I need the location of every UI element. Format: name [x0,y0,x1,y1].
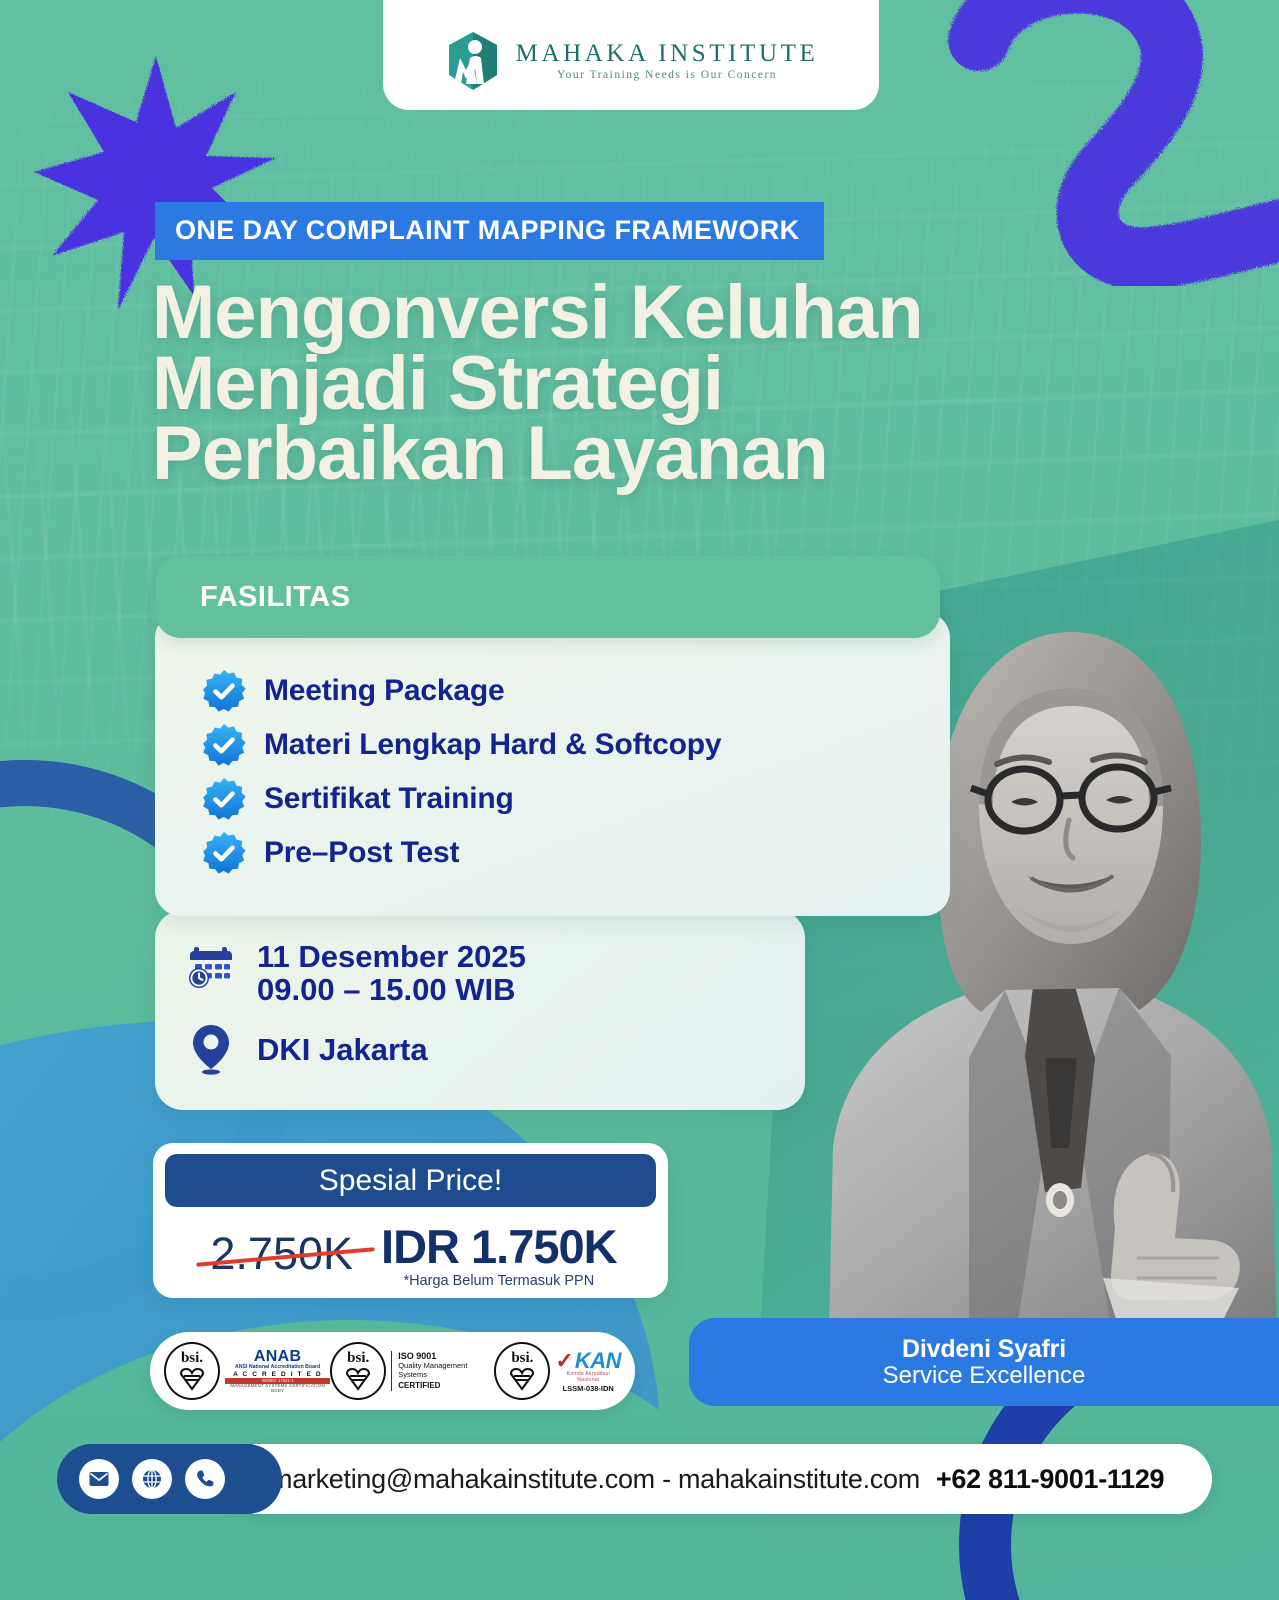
speaker-name: Divdeni Syafri [902,1335,1066,1363]
phone-icon[interactable] [185,1459,225,1499]
new-price-block: IDR 1.750K *Harga Belum Termasuk PPN [381,1219,617,1289]
kan-subtitle: Komite Akreditasi Nasional [555,1372,621,1383]
speaker-banner: Divdeni Syafri Service Excellence [689,1318,1279,1406]
certification-anab: bsi. ANAB ANSI National Accreditation Bo… [164,1342,330,1400]
brand-logo-card: MAHAKA INSTITUTE Your Training Needs is … [383,0,879,110]
email-icon[interactable] [79,1459,119,1499]
certification-badges: bsi. ANAB ANSI National Accreditation Bo… [150,1332,635,1410]
verified-check-icon [202,669,246,713]
bsi-logo-icon: bsi. [330,1342,386,1400]
anab-name: ANAB [225,1348,330,1365]
price-card: Spesial Price! 2.750K IDR 1.750K *Harga … [153,1143,668,1298]
iso-status: CERTIFIED [398,1381,494,1390]
footer-phone[interactable]: +62 811-9001-1129 [936,1464,1164,1495]
calendar-clock-icon [185,940,237,990]
iso-text-block: ISO 9001 Quality Management Systems CERT… [391,1351,494,1391]
facility-label: Materi Lengkap Hard & Softcopy [264,728,721,762]
bsi-logo-icon: bsi. [164,1342,220,1400]
anab-text-block: ANAB ANSI National Accreditation Board A… [225,1348,330,1394]
headline-line-2: Menjadi Strategi [152,349,1072,420]
headline-line-3: Perbaikan Layanan [152,419,1072,490]
facilities-section: FASILITAS Meeting Package [155,556,950,916]
speaker-role: Service Excellence [883,1363,1086,1390]
footer-contact-text: marketing@mahakainstitute.com - mahakain… [270,1464,920,1495]
facility-label: Sertifikat Training [264,782,514,816]
kan-name: KAN [575,1349,621,1372]
list-item: Materi Lengkap Hard & Softcopy [155,718,950,772]
kan-check-icon: ✓ [555,1352,573,1370]
facilities-heading: FASILITAS [155,556,940,638]
iso-scope: Quality Management Systems [398,1362,494,1380]
price-header: Spesial Price! [165,1154,656,1207]
facility-label: Meeting Package [264,674,504,708]
mahaka-monogram-icon [444,30,502,92]
list-item: Sertifikat Training [155,772,950,826]
schedule-card: 11 Desember 2025 09.00 – 15.00 WIB DKI J… [155,910,805,1110]
schedule-datetime: 11 Desember 2025 09.00 – 15.00 WIB [257,940,526,1007]
footer-icon-group [57,1444,282,1514]
map-pin-icon [185,1023,237,1075]
facility-label: Pre–Post Test [264,836,459,870]
brand-name: MAHAKA INSTITUTE [516,41,819,66]
anab-line2: A C C R E D I T E D [225,1371,330,1378]
footer-contact-bar: marketing@mahakainstitute.com - mahakain… [222,1444,1212,1514]
facilities-list: Meeting Package Materi Lengkap Hard & So… [155,612,950,916]
page-title: Mengonversi Keluhan Menjadi Strategi Per… [152,278,1072,490]
verified-check-icon [202,777,246,821]
poster-canvas: MAHAKA INSTITUTE Your Training Needs is … [0,0,1279,1600]
price-note: *Harga Belum Termasuk PPN [381,1273,617,1289]
headline-line-1: Mengonversi Keluhan [152,278,1072,349]
price-body: 2.750K IDR 1.750K *Harga Belum Termasuk … [165,1207,656,1289]
verified-check-icon [202,831,246,875]
list-item: Pre–Post Test [155,826,950,880]
new-price: IDR 1.750K [381,1220,617,1273]
schedule-time: 09.00 – 15.00 WIB [257,973,526,1006]
bsi-logo-icon: bsi. [494,1342,550,1400]
old-price: 2.750K [204,1228,359,1280]
event-kicker-banner: ONE DAY COMPLAINT MAPPING FRAMEWORK [155,202,824,260]
brand-tagline: Your Training Needs is Our Concern [516,70,819,82]
schedule-location-row: DKI Jakarta [185,1023,805,1075]
verified-check-icon [202,723,246,767]
kan-code: LSSM-038-IDN [555,1385,621,1393]
schedule-location: DKI Jakarta [257,1023,428,1068]
certification-kan: bsi. ✓ KAN Komite Akreditasi Nasional LS… [494,1342,621,1400]
kan-text-block: ✓ KAN Komite Akreditasi Nasional LSSM-03… [555,1349,621,1393]
anab-line3: MANAGEMENT SYSTEMS CERTIFICATION BODY [225,1384,330,1394]
schedule-datetime-row: 11 Desember 2025 09.00 – 15.00 WIB [185,940,805,1007]
list-item: Meeting Package [155,664,950,718]
certification-iso9001: bsi. ISO 9001 Quality Management Systems… [330,1342,494,1400]
schedule-date: 11 Desember 2025 [257,940,526,973]
globe-icon[interactable] [132,1459,172,1499]
